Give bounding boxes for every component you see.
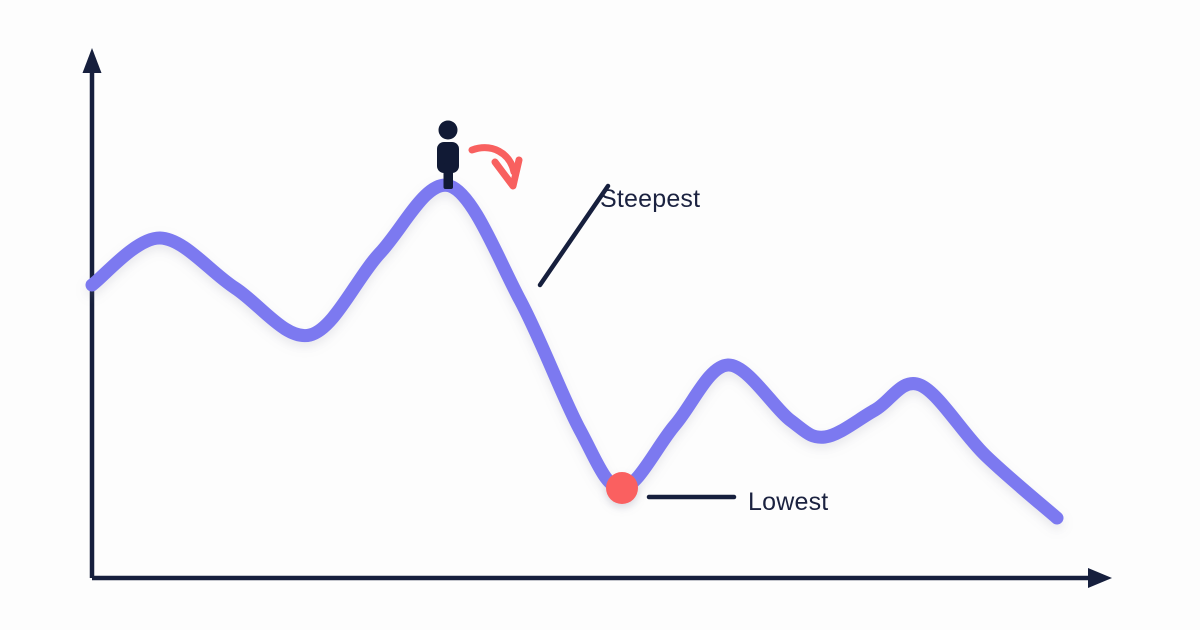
descent-arrow-icon	[472, 148, 519, 186]
person-legs-icon	[444, 163, 454, 189]
y-axis	[83, 48, 102, 578]
illustration-canvas: Steepest Lowest	[0, 0, 1200, 630]
y-axis-arrowhead-icon	[83, 48, 102, 73]
lowest-label: Lowest	[748, 488, 828, 516]
steepest-label: Steepest	[600, 185, 700, 213]
curve-illustration: Steepest Lowest	[0, 0, 1200, 630]
descent-arrow-head	[495, 160, 519, 186]
person-head-icon	[439, 121, 458, 140]
x-axis	[92, 568, 1112, 588]
x-axis-arrowhead-icon	[1088, 568, 1112, 588]
steepest-annotation: Steepest	[540, 185, 700, 285]
steepest-leader-line	[540, 186, 608, 285]
person-on-peak-icon	[437, 121, 459, 190]
lowest-point-marker	[606, 472, 638, 504]
